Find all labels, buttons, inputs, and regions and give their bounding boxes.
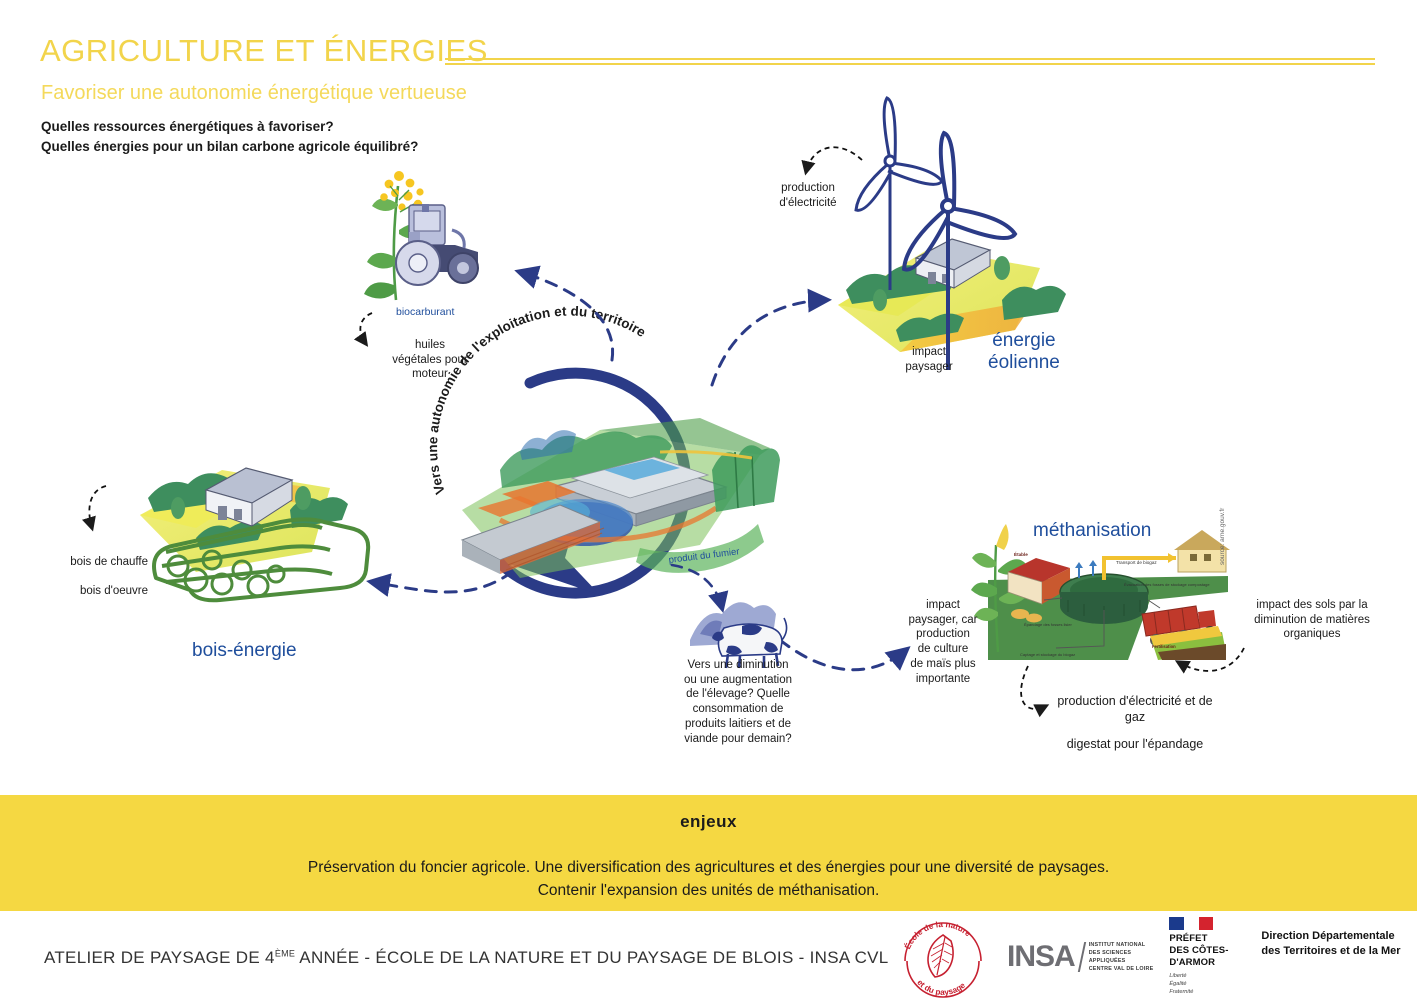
logo-insa: INSA INSTITUT NATIONAL DES SCIENCES APPL… bbox=[1007, 940, 1153, 974]
prefet-line-2: DES CÔTES- bbox=[1169, 945, 1247, 957]
footer-credit: ATELIER DE PAYSAGE DE 4ÈME ANNÉE - ÉCOLE… bbox=[44, 948, 889, 968]
label-question-elevage: Vers une diminution ou une augmentation … bbox=[678, 658, 798, 746]
arrow-center-to-bois bbox=[372, 572, 512, 592]
motto-1: Liberté bbox=[1169, 972, 1247, 980]
label-digestat: digestat pour l'épandage bbox=[1020, 736, 1250, 752]
label-biocarburant: biocarburant bbox=[396, 306, 454, 318]
label-bois-oeuvre: bois d'oeuvre bbox=[20, 584, 148, 599]
label-methanisation: méthanisation bbox=[1033, 520, 1151, 542]
label-bois-de-chauffe: bois de chauffe bbox=[20, 555, 148, 570]
arrow-elevage-to-methanisation bbox=[780, 640, 906, 670]
svg-text:Épandage des fosses lisier: Épandage des fosses lisier bbox=[1024, 622, 1072, 627]
logo-ecole-nature-paysage: École de la nature et du paysage bbox=[895, 915, 991, 999]
prefet-line-3: D'ARMOR bbox=[1169, 957, 1247, 969]
insa-sub-1: INSTITUT NATIONAL bbox=[1089, 941, 1154, 949]
prefet-name: PRÉFET DES CÔTES- D'ARMOR bbox=[1169, 933, 1247, 968]
prefet-block: PRÉFET DES CÔTES- D'ARMOR Liberté Égalit… bbox=[1169, 917, 1247, 996]
label-huiles-vegetales: huiles végétales pour moteur bbox=[380, 338, 480, 382]
insa-sub-3: APPLIQUÉES bbox=[1089, 957, 1154, 965]
label-impact-paysager-mais: impact paysager, car production de cultu… bbox=[900, 598, 986, 686]
label-energie-eolienne: énergie éolienne bbox=[988, 330, 1060, 374]
svg-text:Transport de biogaz: Transport de biogaz bbox=[1116, 560, 1157, 565]
prefet-line-1: PRÉFET bbox=[1169, 933, 1247, 945]
footer-credit-sup: ÈME bbox=[275, 948, 295, 958]
svg-text:Fertilisation: Fertilisation bbox=[1152, 644, 1176, 649]
footer-credit-after: ANNÉE - ÉCOLE DE LA NATURE ET DU PAYSAGE… bbox=[295, 948, 888, 967]
footer: ATELIER DE PAYSAGE DE 4ÈME ANNÉE - ÉCOLE… bbox=[0, 911, 1417, 1002]
insa-sub-4: CENTRE VAL DE LOIRE bbox=[1089, 965, 1154, 973]
insa-divider bbox=[1077, 942, 1085, 972]
methanisation-illustration: Étable Transport de biogaz Évacuation de… bbox=[971, 524, 1244, 709]
label-impact-sols: impact des sols par la diminution de mat… bbox=[1236, 598, 1388, 642]
enjeux-banner: enjeux Préservation du foncier agricole.… bbox=[0, 795, 1417, 907]
label-source: source: arne.gouv.fr bbox=[1219, 508, 1226, 565]
motto-2: Égalité bbox=[1169, 980, 1247, 988]
motto-3: Fraternité bbox=[1169, 988, 1247, 996]
footer-credit-before: ATELIER DE PAYSAGE DE 4 bbox=[44, 948, 275, 967]
svg-text:et du paysage: et du paysage bbox=[915, 978, 967, 997]
label-impact-paysager-eolien: impact paysager bbox=[898, 345, 960, 374]
meth-label-etable: Étable bbox=[1014, 550, 1028, 557]
ddtm-name: Direction Départementale des Territoires… bbox=[1261, 917, 1400, 959]
bois-energie-illustration bbox=[89, 468, 368, 600]
poster-root: AGRICULTURE ET ÉNERGIES Favoriser une au… bbox=[0, 0, 1417, 1002]
republic-motto: Liberté Égalité Fraternité bbox=[1169, 972, 1247, 996]
svg-text:Évacuation des fosses de stock: Évacuation des fosses de stockage compos… bbox=[1124, 582, 1210, 587]
enjeux-line-1: Préservation du foncier agricole. Une di… bbox=[0, 856, 1417, 879]
enjeux-title: enjeux bbox=[0, 812, 1417, 832]
label-production-electricite-gaz: production d'électricité et de gaz bbox=[1040, 693, 1230, 725]
biocarburant-illustration bbox=[360, 171, 478, 344]
arrow-center-to-eolienne bbox=[712, 300, 826, 385]
label-production-electricite: production d'électricité bbox=[766, 181, 850, 210]
label-bois-energie: bois-énergie bbox=[192, 640, 297, 662]
logo-prefecture: PRÉFET DES CÔTES- D'ARMOR Liberté Égalit… bbox=[1169, 917, 1400, 996]
enjeux-line-2: Contenir l'expansion des unités de métha… bbox=[0, 879, 1417, 902]
svg-text:Captage et stockage du biogaz: Captage et stockage du biogaz bbox=[1020, 652, 1075, 657]
ddtm-line-2: des Territoires et de la Mer bbox=[1261, 944, 1400, 959]
french-flag-icon bbox=[1169, 917, 1213, 930]
enjeux-body: Préservation du foncier agricole. Une di… bbox=[0, 856, 1417, 903]
insa-sub-2: DES SCIENCES bbox=[1089, 949, 1154, 957]
ddtm-line-1: Direction Départementale bbox=[1261, 929, 1400, 944]
svg-text:École de la nature: École de la nature bbox=[902, 920, 972, 951]
insa-wordmark: INSA bbox=[1007, 940, 1075, 974]
insa-subtitle: INSTITUT NATIONAL DES SCIENCES APPLIQUÉE… bbox=[1089, 941, 1154, 973]
footer-logos: École de la nature et du paysage INSA IN… bbox=[895, 915, 1401, 999]
